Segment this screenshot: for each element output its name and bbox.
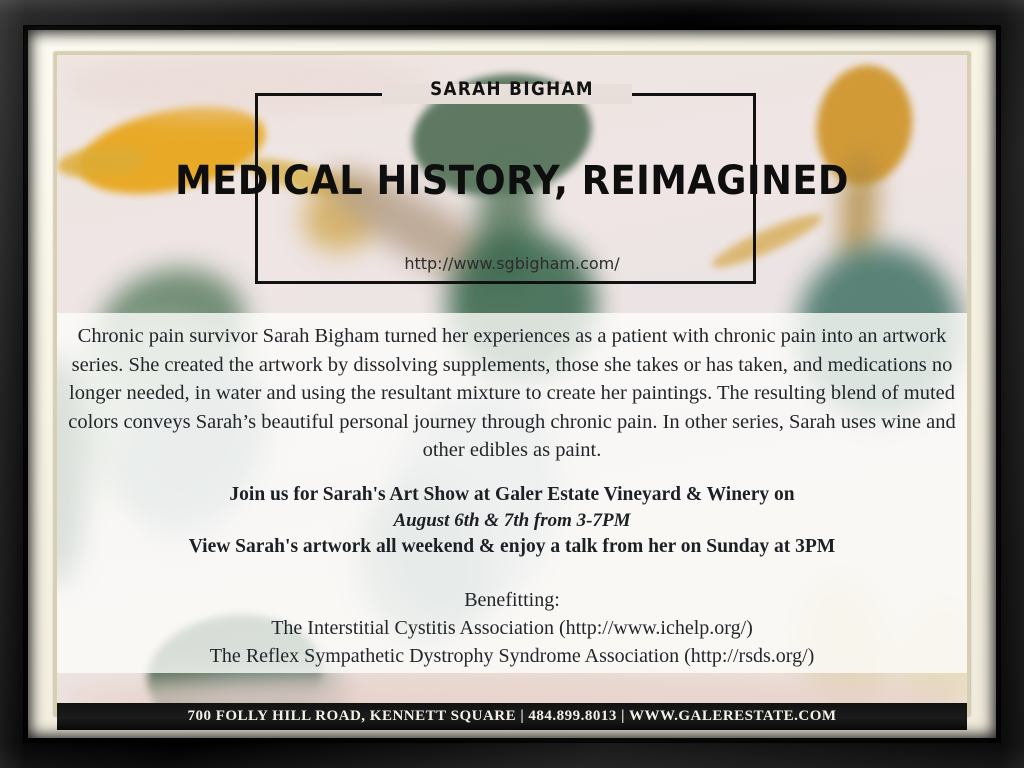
benefitting-org-1[interactable]: The Interstitial Cystitis Association (h… xyxy=(66,614,958,642)
benefitting-org-2[interactable]: The Reflex Sympathetic Dystrophy Syndrom… xyxy=(66,642,958,670)
picture-frame: SARAH BIGHAM MEDICAL HISTORY, REIMAGINED… xyxy=(0,0,1024,768)
footer-bottom-strip xyxy=(57,730,967,734)
event-venue-line: Join us for Sarah's Art Show at Galer Es… xyxy=(66,482,958,508)
footer-bar: 700 FOLLY HILL ROAD, KENNETT SQUARE | 48… xyxy=(57,703,967,730)
page-title: MEDICAL HISTORY, REIMAGINED xyxy=(41,158,983,204)
event-details: Join us for Sarah's Art Show at Galer Es… xyxy=(66,482,958,560)
artist-website-url[interactable]: http://www.sgbigham.com/ xyxy=(0,254,1024,273)
event-talk-line: View Sarah's artwork all weekend & enjoy… xyxy=(66,534,958,560)
body-paragraph: Chronic pain survivor Sarah Bigham turne… xyxy=(66,322,958,465)
venue-contact-line: 700 FOLLY HILL ROAD, KENNETT SQUARE | 48… xyxy=(187,708,836,725)
artist-name-kicker: SARAH BIGHAM xyxy=(61,78,962,100)
event-date-time-line: August 6th & 7th from 3-7PM xyxy=(66,508,958,534)
benefitting-heading: Benefitting: xyxy=(66,586,958,614)
benefitting-block: Benefitting: The Interstitial Cystitis A… xyxy=(66,586,958,670)
